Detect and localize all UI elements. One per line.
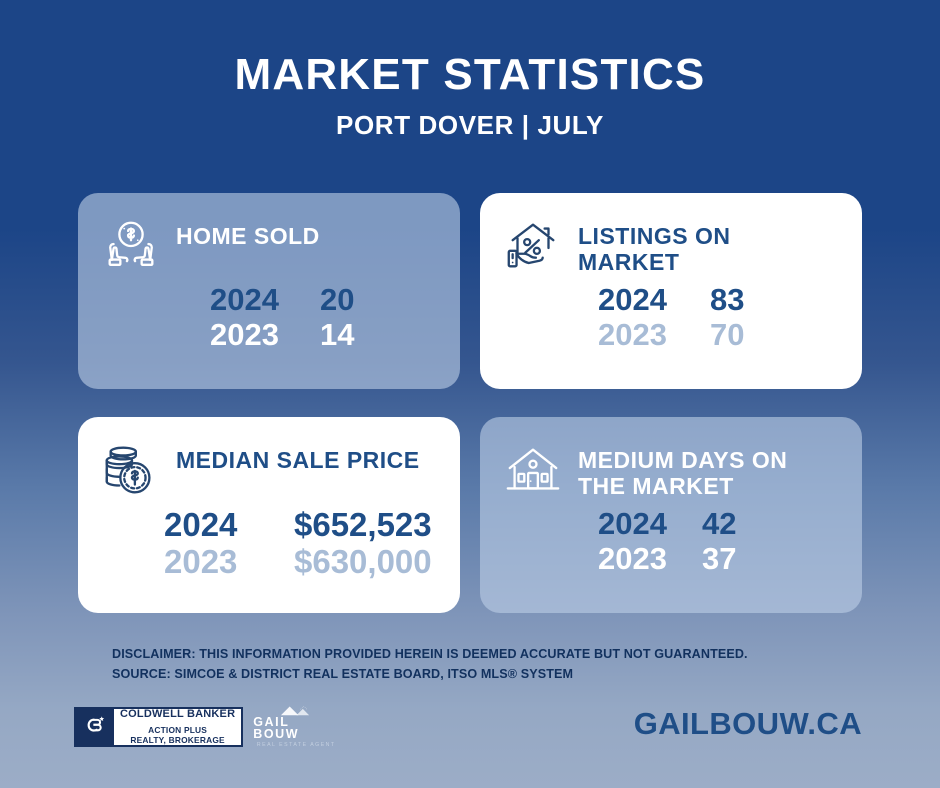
card-title: LISTINGS ON MARKET xyxy=(578,215,836,275)
stat-value: 14 xyxy=(320,318,354,353)
hands-holding-coin-icon xyxy=(100,215,162,277)
footer-logos: COLDWELL BANKER ACTION PLUS REALTY, BROK… xyxy=(74,705,339,749)
card-header: MEDIUM DAYS ON THE MARKET xyxy=(502,439,836,501)
gail-bouw-name: GAIL BOUW xyxy=(253,716,339,741)
stat-card-median-sale-price: MEDIAN SALE PRICE 2024 $652,523 2023 $63… xyxy=(78,417,460,613)
hand-holding-house-percent-icon xyxy=(502,215,564,277)
card-header: HOME SOLD xyxy=(100,215,434,277)
gail-bouw-tagline: REAL ESTATE AGENT xyxy=(257,741,336,749)
card-header: LISTINGS ON MARKET xyxy=(502,215,836,277)
stat-year: 2023 xyxy=(598,318,710,353)
stat-value: 37 xyxy=(702,542,736,577)
card-rows: 2024 20 2023 14 xyxy=(100,283,434,352)
card-title: MEDIAN SALE PRICE xyxy=(176,439,420,473)
stat-value: 20 xyxy=(320,283,354,318)
card-title: MEDIUM DAYS ON THE MARKET xyxy=(578,439,836,499)
stat-value: 70 xyxy=(710,318,744,353)
page-subtitle: PORT DOVER | JULY xyxy=(0,110,940,141)
poster-canvas: MARKET STATISTICS PORT DOVER | JULY xyxy=(0,0,940,788)
stat-row: 2023 70 xyxy=(598,318,836,353)
brokerage-name: COLDWELL BANKER xyxy=(120,708,235,720)
website-url[interactable]: GAILBOUW.CA xyxy=(634,706,862,742)
page-title: MARKET STATISTICS xyxy=(0,52,940,98)
stat-row: 2023 37 xyxy=(598,542,836,577)
card-rows: 2024 $652,523 2023 $630,000 xyxy=(100,507,434,581)
stat-value: 42 xyxy=(702,507,736,542)
coldwell-banker-cb-monogram-icon xyxy=(76,709,114,745)
gail-bouw-logo: GAIL BOUW REAL ESTATE AGENT xyxy=(253,705,339,749)
stat-card-days-on-market: MEDIUM DAYS ON THE MARKET 2024 42 2023 3… xyxy=(480,417,862,613)
stat-card-listings-on-market: LISTINGS ON MARKET 2024 83 2023 70 xyxy=(480,193,862,389)
stat-year: 2023 xyxy=(598,542,702,577)
disclaimer-source-line: SOURCE: SIMCOE & DISTRICT REAL ESTATE BO… xyxy=(112,665,872,685)
stat-row: 2023 14 xyxy=(210,318,434,353)
stat-value: $652,523 xyxy=(294,507,432,544)
stat-value: 83 xyxy=(710,283,744,318)
stat-row: 2023 $630,000 xyxy=(164,544,434,581)
brokerage-office-line-2: REALTY, BROKERAGE xyxy=(130,735,224,746)
coldwell-banker-logo: COLDWELL BANKER ACTION PLUS REALTY, BROK… xyxy=(74,707,243,747)
footer: COLDWELL BANKER ACTION PLUS REALTY, BROK… xyxy=(0,700,940,760)
coldwell-banker-wordmark: COLDWELL BANKER ACTION PLUS REALTY, BROK… xyxy=(114,709,241,745)
disclaimer-line-1: DISCLAIMER: THIS INFORMATION PROVIDED HE… xyxy=(112,645,872,665)
house-icon xyxy=(502,439,564,501)
stat-year: 2024 xyxy=(210,283,320,318)
stat-year: 2023 xyxy=(210,318,320,353)
stat-value: $630,000 xyxy=(294,544,432,581)
card-rows: 2024 83 2023 70 xyxy=(502,283,836,352)
card-title: HOME SOLD xyxy=(176,215,320,249)
card-header: MEDIAN SALE PRICE xyxy=(100,439,434,501)
header: MARKET STATISTICS PORT DOVER | JULY xyxy=(0,52,940,141)
stat-row: 2024 42 xyxy=(598,507,836,542)
stat-year: 2024 xyxy=(598,283,710,318)
stat-row: 2024 $652,523 xyxy=(164,507,434,544)
stat-year: 2023 xyxy=(164,544,294,581)
card-rows: 2024 42 2023 37 xyxy=(502,507,836,576)
stat-row: 2024 83 xyxy=(598,283,836,318)
stats-grid: HOME SOLD 2024 20 2023 14 xyxy=(78,193,862,613)
stacked-coins-icon xyxy=(100,439,162,501)
brokerage-office-line-1: ACTION PLUS xyxy=(148,725,207,736)
stat-year: 2024 xyxy=(164,507,294,544)
disclaimer: DISCLAIMER: THIS INFORMATION PROVIDED HE… xyxy=(112,645,872,684)
stat-card-home-sold: HOME SOLD 2024 20 2023 14 xyxy=(78,193,460,389)
stat-row: 2024 20 xyxy=(210,283,434,318)
stat-year: 2024 xyxy=(598,507,702,542)
